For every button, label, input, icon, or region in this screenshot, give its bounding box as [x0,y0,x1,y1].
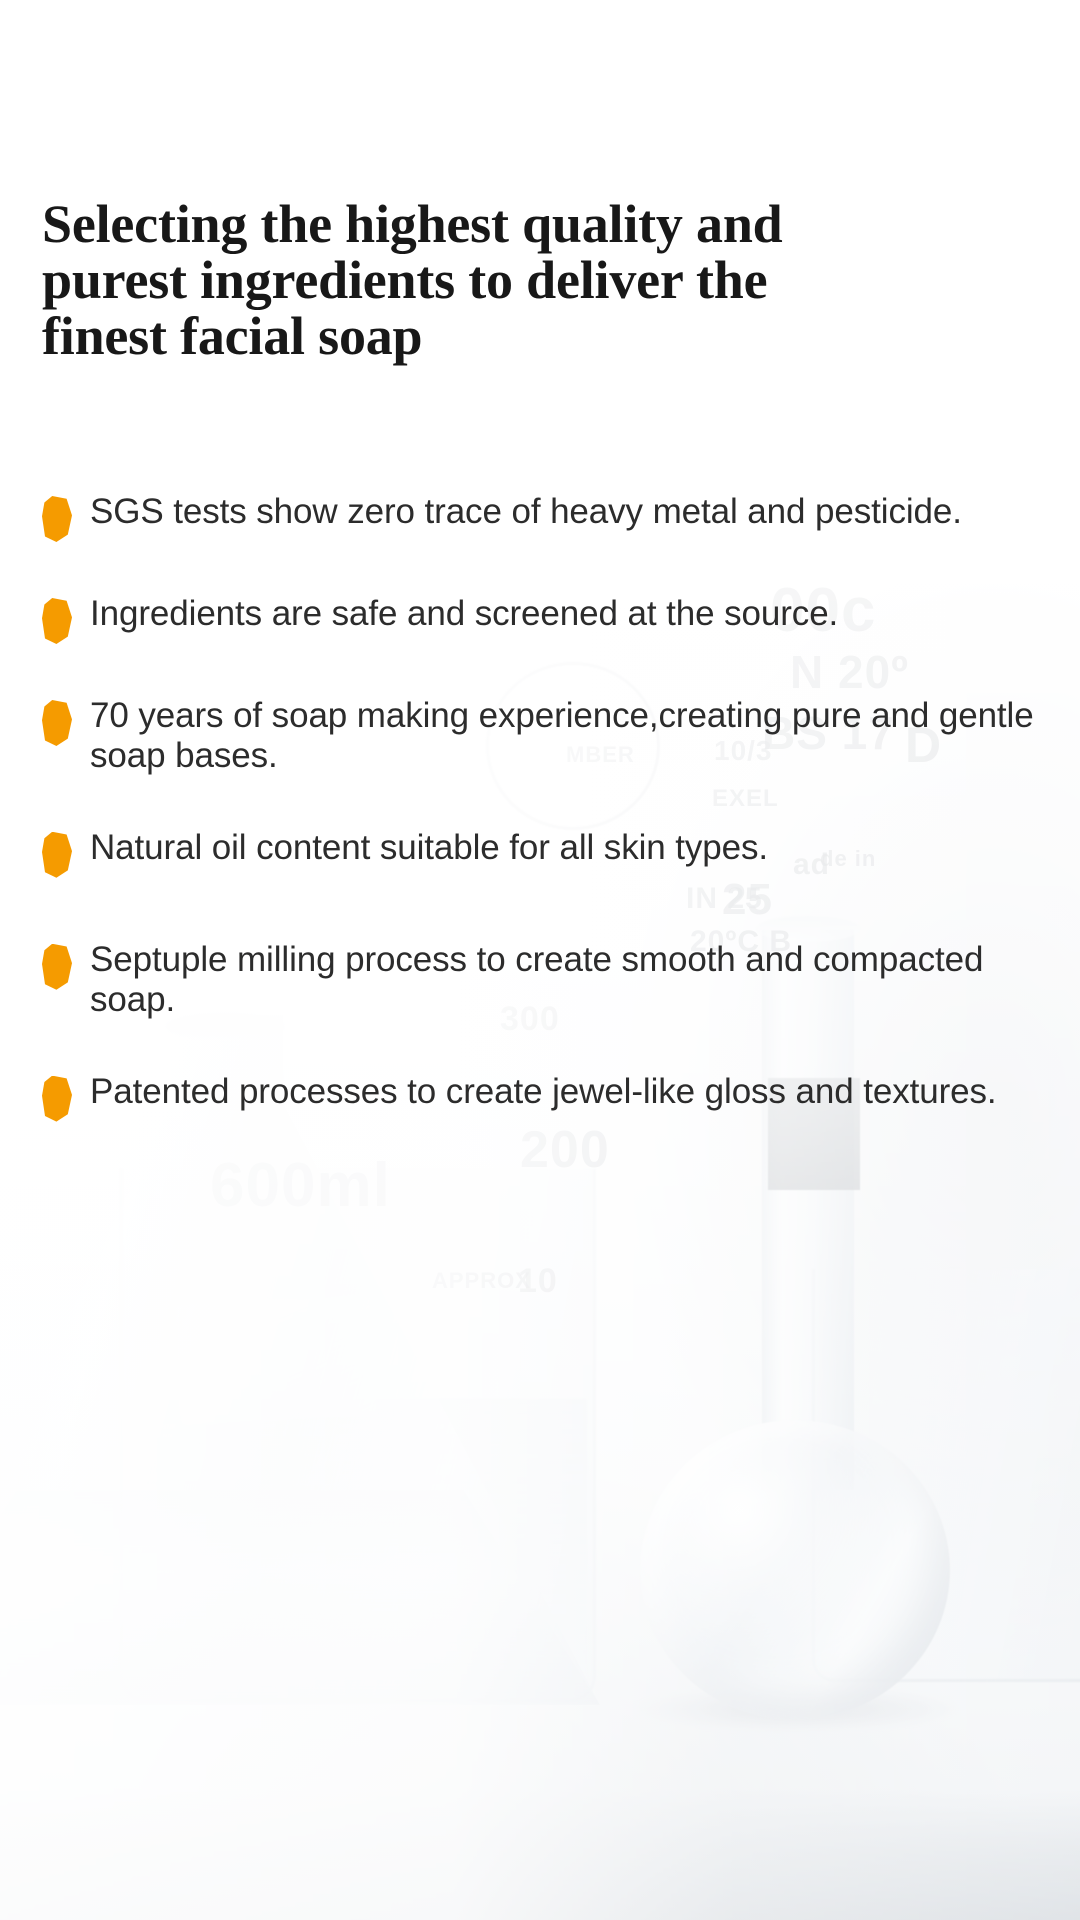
list-item: Septuple milling process to create smoot… [42,940,1042,1020]
list-item-label: Septuple milling process to create smoot… [90,940,1042,1020]
list-item-label: Patented processes to create jewel-like … [90,1072,1042,1112]
hexagon-bullet-icon [42,832,72,878]
page-title: Selecting the highest quality and purest… [42,196,842,364]
list-item: Patented processes to create jewel-like … [42,1072,1042,1122]
hexagon-bullet-icon [42,944,72,990]
slide-content: Selecting the highest quality and purest… [0,0,1080,1920]
list-item-label: Natural oil content suitable for all ski… [90,828,1042,868]
hexagon-bullet-icon [42,496,72,542]
list-item: Ingredients are safe and screened at the… [42,594,1042,644]
hexagon-bullet-icon [42,700,72,746]
list-item: SGS tests show zero trace of heavy metal… [42,492,1042,542]
list-item-label: SGS tests show zero trace of heavy metal… [90,492,1042,532]
headline-line-1: Selecting the highest quality and [42,194,783,254]
list-item: 70 years of soap making experience,creat… [42,696,1042,776]
feature-bullet-list: SGS tests show zero trace of heavy metal… [42,492,1042,1122]
list-item-label: 70 years of soap making experience,creat… [90,696,1042,776]
list-item: Natural oil content suitable for all ski… [42,828,1042,878]
list-item-label: Ingredients are safe and screened at the… [90,594,1042,634]
hexagon-bullet-icon [42,598,72,644]
headline-line-3: finest facial soap [42,306,422,366]
hexagon-bullet-icon [42,1076,72,1122]
headline-line-2: purest ingredients to deliver the [42,250,767,310]
slide-root: 00cN 20ºBS 17D10/3EXEL25IN 2520ºC Badde … [0,0,1080,1920]
